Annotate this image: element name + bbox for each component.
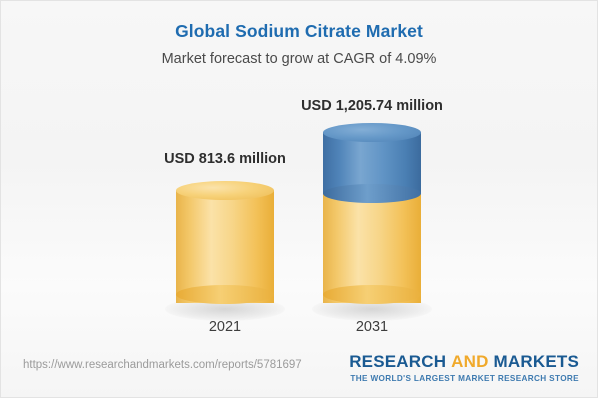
category-label-2031: 2031 bbox=[292, 319, 452, 335]
category-label-2021: 2021 bbox=[145, 319, 305, 335]
value-label-2021: USD 813.6 million bbox=[105, 151, 345, 167]
chart-card: Global Sodium Citrate Market Market fore… bbox=[0, 0, 598, 398]
logo-tagline: THE WORLD'S LARGEST MARKET RESEARCH STOR… bbox=[349, 375, 579, 383]
bar-bottom-cap-2021 bbox=[176, 285, 274, 304]
source-url-link[interactable]: https://www.researchandmarkets.com/repor… bbox=[23, 359, 302, 371]
value-label-2031: USD 1,205.74 million bbox=[252, 98, 492, 114]
logo-word-research: RESEARCH bbox=[349, 352, 446, 371]
research-and-markets-logo[interactable]: RESEARCH AND MARKETS THE WORLD'S LARGEST… bbox=[349, 353, 579, 383]
bar-top-cap-2031 bbox=[323, 123, 421, 142]
bar-2031[interactable] bbox=[323, 123, 421, 311]
bar-bottom-cap-2031 bbox=[323, 285, 421, 304]
bar-2021[interactable] bbox=[176, 181, 274, 311]
chart-footer: https://www.researchandmarkets.com/repor… bbox=[1, 345, 597, 397]
bar-segment-joint-2031 bbox=[323, 184, 421, 203]
bar-top-cap-2021 bbox=[176, 181, 274, 200]
logo-word-and: AND bbox=[451, 352, 488, 371]
chart-area: Global Sodium Citrate Market Market fore… bbox=[1, 1, 597, 397]
logo-word-markets: MARKETS bbox=[494, 352, 579, 371]
logo-wordmark: RESEARCH AND MARKETS bbox=[349, 353, 579, 370]
plot-area: USD 813.6 million 2021 USD 1,205.74 mill… bbox=[1, 1, 598, 398]
